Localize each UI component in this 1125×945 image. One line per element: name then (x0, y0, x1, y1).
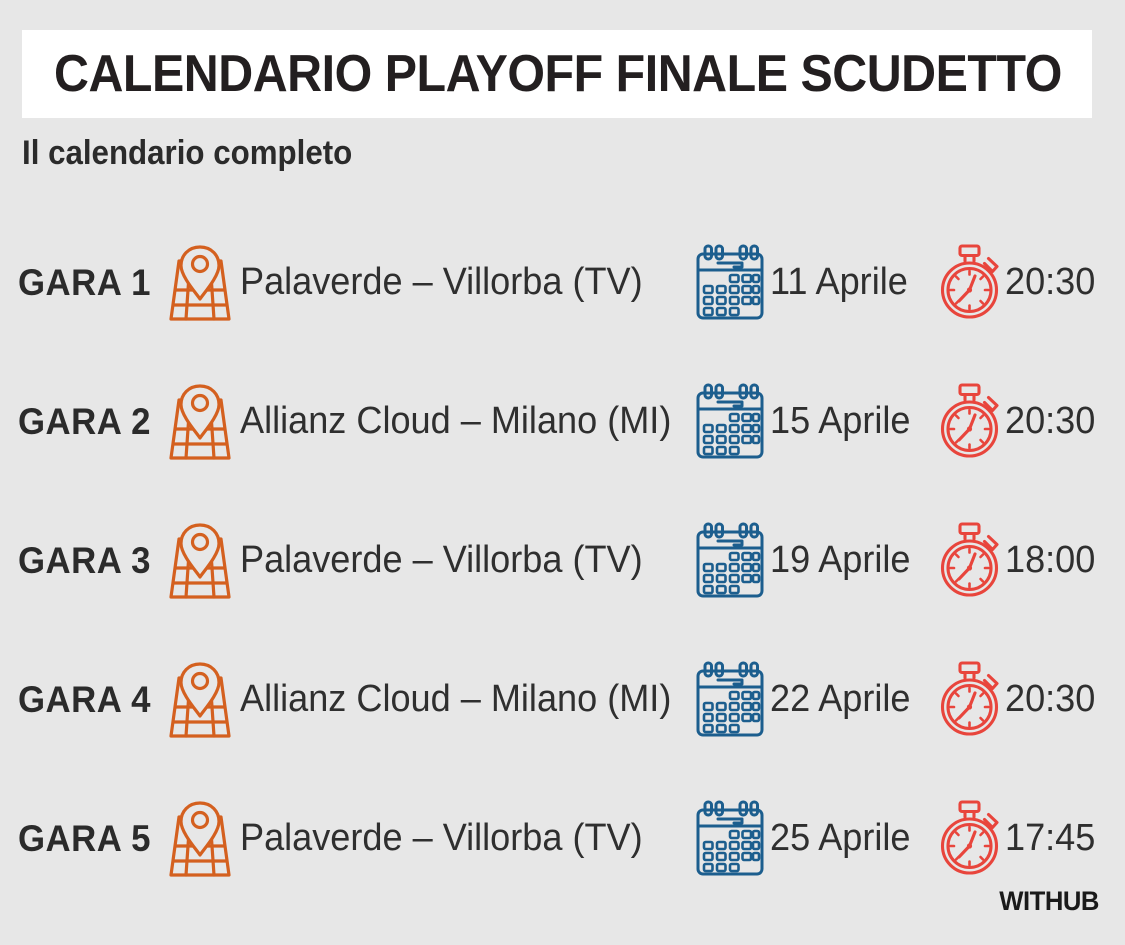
map-location-icon (166, 521, 234, 601)
stopwatch-icon (937, 660, 1005, 740)
map-location-icon (166, 243, 234, 323)
time-label: 20:30 (1005, 400, 1095, 443)
schedule-list: GARA 1 Palaverde – Villorba (TV) (0, 213, 1125, 908)
calendar-icon (694, 383, 766, 461)
date-label: 11 Aprile (770, 261, 908, 304)
time-label: 18:00 (1005, 539, 1095, 582)
time-label: 20:30 (1005, 261, 1095, 304)
game-label: GARA 4 (18, 679, 155, 721)
map-location-icon (166, 382, 234, 462)
venue-label: Allianz Cloud – Milano (MI) (240, 678, 671, 721)
date-label: 22 Aprile (770, 678, 910, 721)
schedule-row: GARA 2 Allianz Cloud – Milano (MI) (0, 352, 1125, 491)
stopwatch-icon (937, 243, 1005, 323)
infographic-page: CALENDARIO PLAYOFF FINALE SCUDETTO Il ca… (0, 0, 1125, 945)
game-label: GARA 2 (18, 401, 155, 443)
schedule-row: GARA 3 Palaverde – Villorba (TV) (0, 491, 1125, 630)
date-label: 19 Aprile (770, 539, 910, 582)
schedule-row: GARA 5 Palaverde – Villorba (TV) (0, 769, 1125, 908)
stopwatch-icon (937, 382, 1005, 462)
time-label: 20:30 (1005, 678, 1095, 721)
time-label: 17:45 (1005, 817, 1095, 860)
schedule-row: GARA 4 Allianz Cloud – Milano (MI) (0, 630, 1125, 769)
venue-label: Allianz Cloud – Milano (MI) (240, 400, 671, 443)
calendar-icon (694, 522, 766, 600)
game-label: GARA 5 (18, 818, 155, 860)
venue-label: Palaverde – Villorba (TV) (240, 817, 643, 860)
date-label: 15 Aprile (770, 400, 910, 443)
map-location-icon (166, 799, 234, 879)
page-subtitle: Il calendario completo (22, 134, 352, 173)
title-band: CALENDARIO PLAYOFF FINALE SCUDETTO (22, 30, 1092, 118)
venue-label: Palaverde – Villorba (TV) (240, 261, 643, 304)
venue-label: Palaverde – Villorba (TV) (240, 539, 643, 582)
schedule-row: GARA 1 Palaverde – Villorba (TV) (0, 213, 1125, 352)
page-title: CALENDARIO PLAYOFF FINALE SCUDETTO (54, 48, 1062, 100)
date-label: 25 Aprile (770, 817, 910, 860)
stopwatch-icon (937, 521, 1005, 601)
map-location-icon (166, 660, 234, 740)
calendar-icon (694, 661, 766, 739)
game-label: GARA 3 (18, 540, 155, 582)
calendar-icon (694, 244, 766, 322)
game-label: GARA 1 (18, 262, 155, 304)
calendar-icon (694, 800, 766, 878)
stopwatch-icon (937, 799, 1005, 879)
withub-logo: WITHUB (999, 886, 1099, 917)
